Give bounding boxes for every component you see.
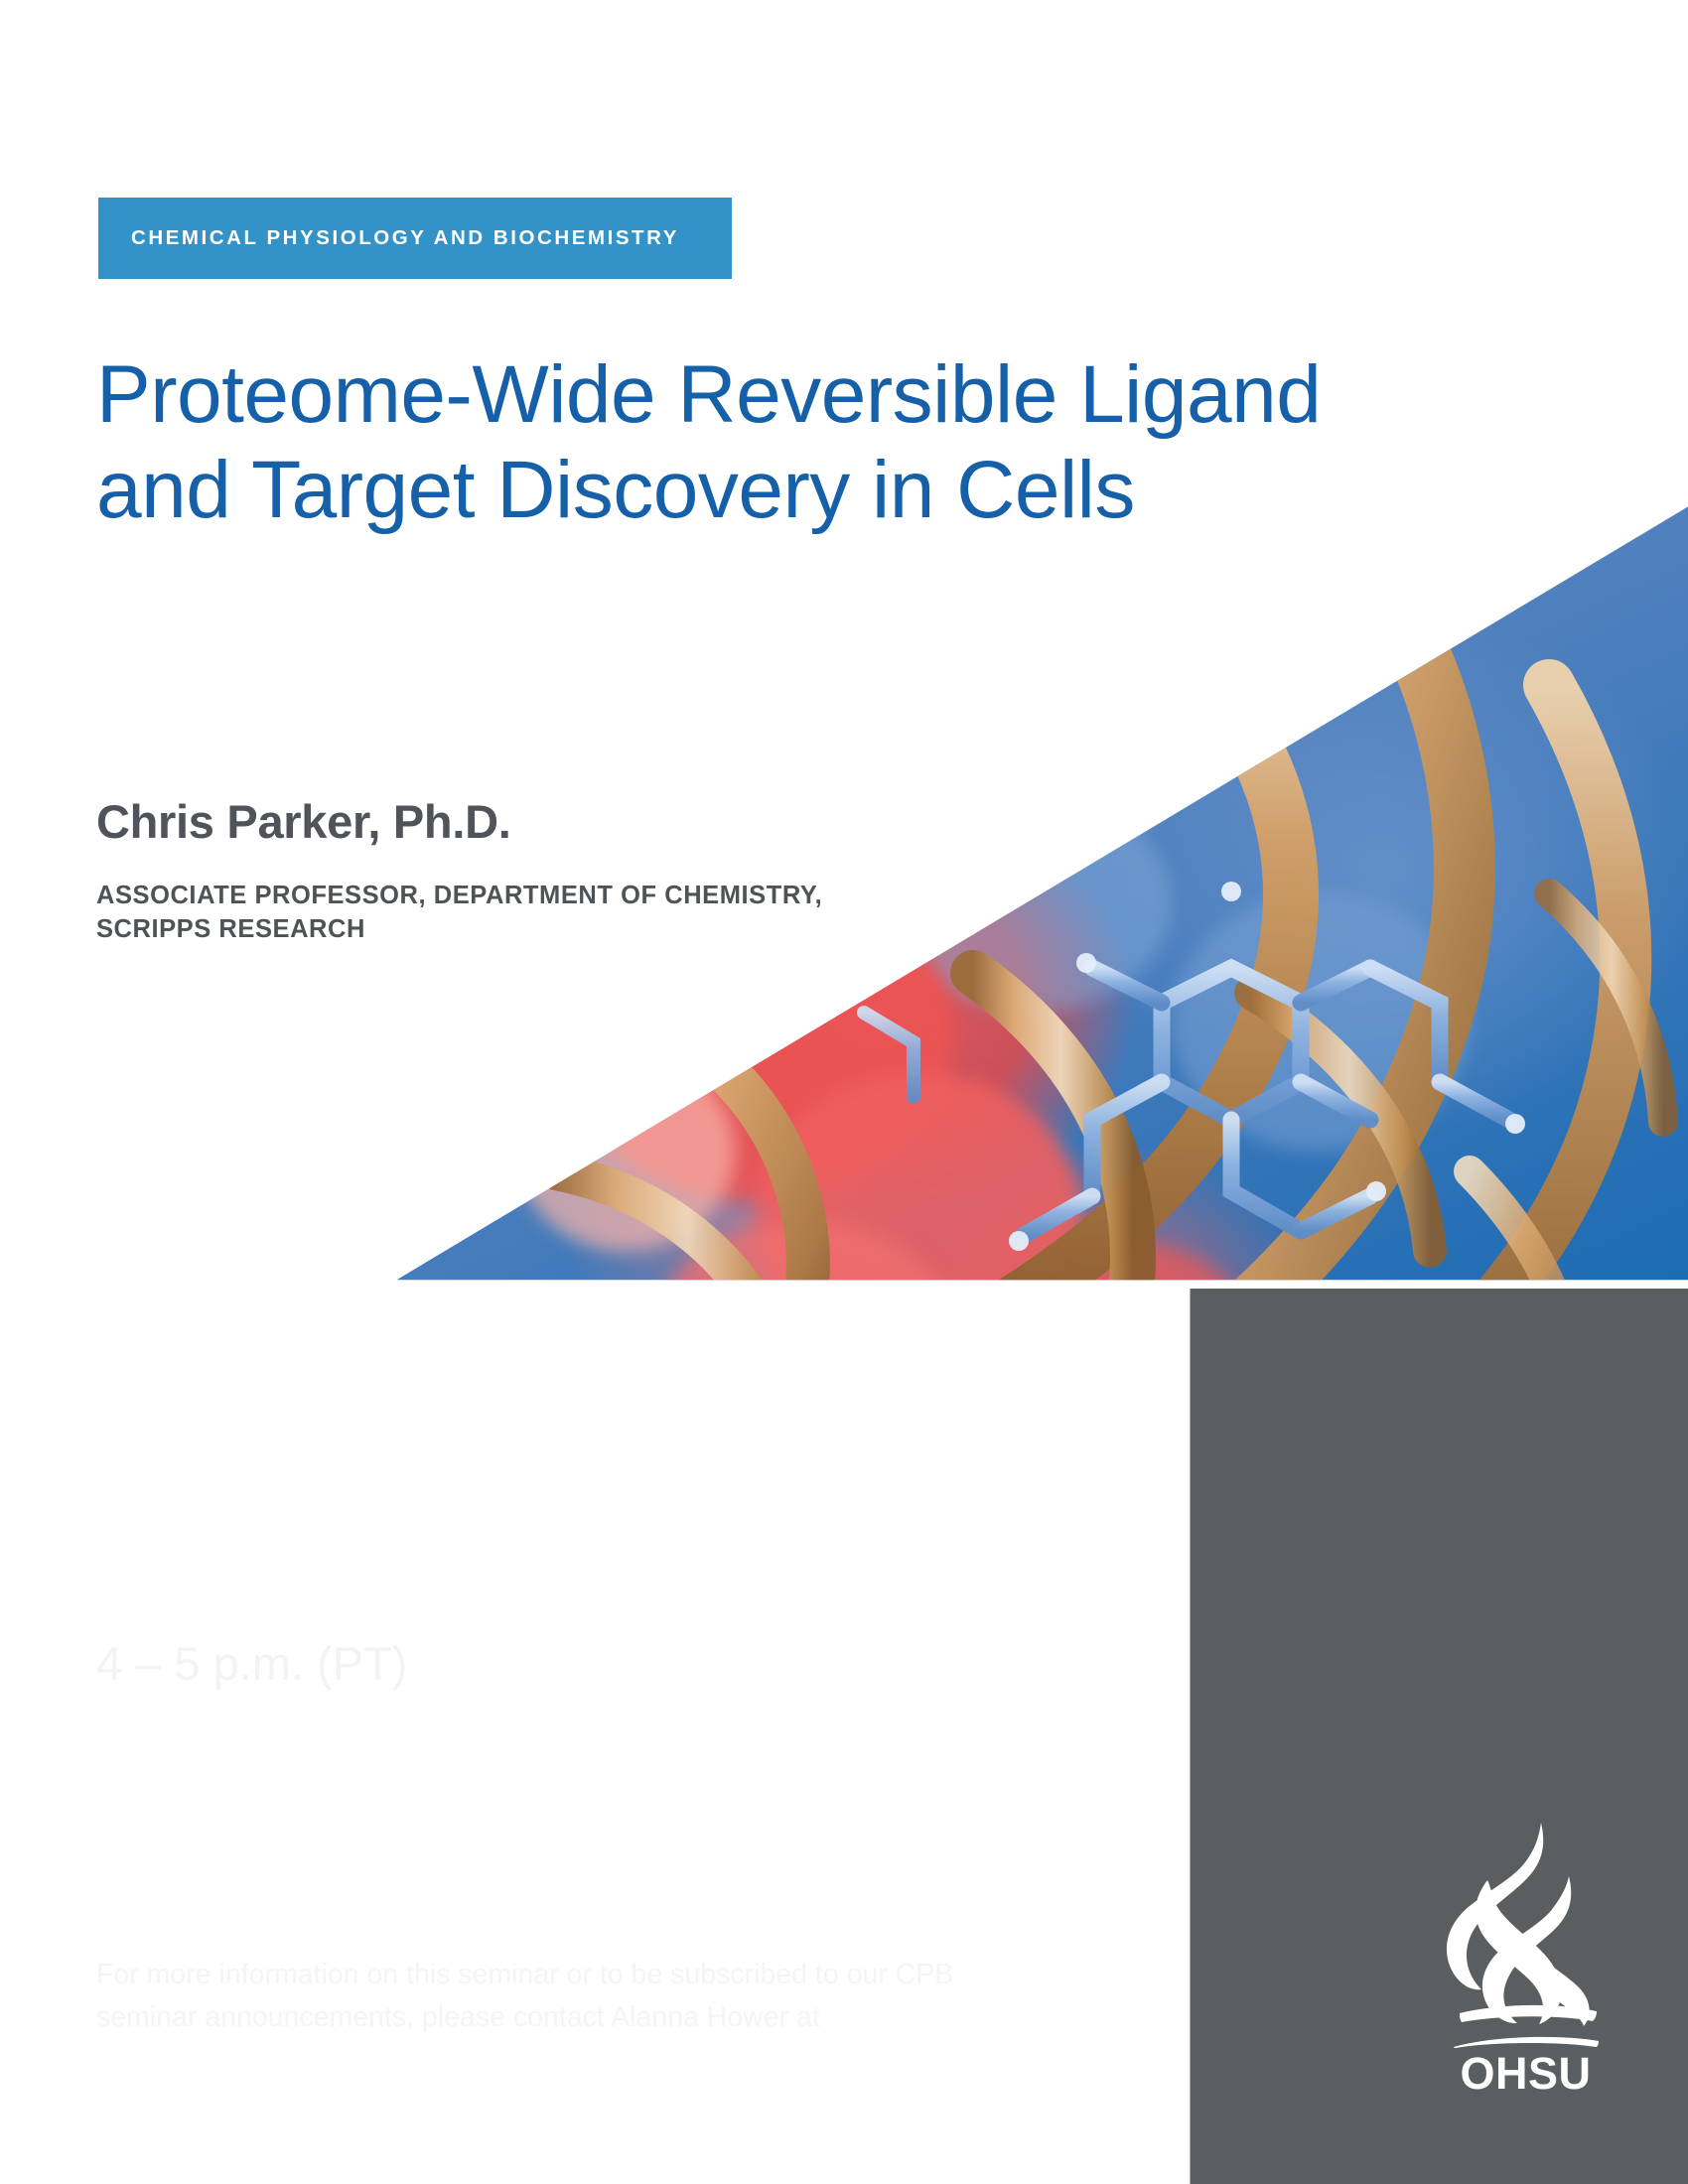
ohsu-wordmark: OHSU xyxy=(1434,2035,1618,2096)
ohsu-swoosh-icon xyxy=(1452,2035,1601,2048)
event-time: 4 – 5 p.m. (PT) xyxy=(96,1636,407,1691)
speaker-name: Chris Parker, Ph.D. xyxy=(96,794,510,849)
contact-paragraph: For more information on this seminar or … xyxy=(96,1954,1000,2083)
ohsu-logo: OHSU xyxy=(1422,1815,1630,2103)
event-date: Thursday, May 26 xyxy=(96,1555,506,1612)
webex-seminar-link[interactable]: Link to WebEx Seminar xyxy=(96,1874,421,1908)
speaker-affiliation: ASSOCIATE PROFESSOR, DEPARTMENT OF CHEMI… xyxy=(96,880,851,947)
page-title: Proteome-Wide Reversible Ligand and Targ… xyxy=(96,347,1387,539)
department-banner-label: CHEMICAL PHYSIOLOGY AND BIOCHEMISTRY xyxy=(98,226,679,250)
seminar-poster: CHEMICAL PHYSIOLOGY AND BIOCHEMISTRY Pro… xyxy=(0,0,1688,2184)
ohsu-flame-icon xyxy=(1430,1815,1618,2028)
ohsu-wordmark-text: OHSU xyxy=(1434,2051,1618,2096)
contact-email-link[interactable]: howera@ohsu.edu xyxy=(96,2045,349,2077)
contact-text: For more information on this seminar or … xyxy=(96,1959,953,2033)
department-banner: CHEMICAL PHYSIOLOGY AND BIOCHEMISTRY xyxy=(98,198,732,279)
event-venue: Vollum Auditorium M1441 xyxy=(96,1833,453,1866)
